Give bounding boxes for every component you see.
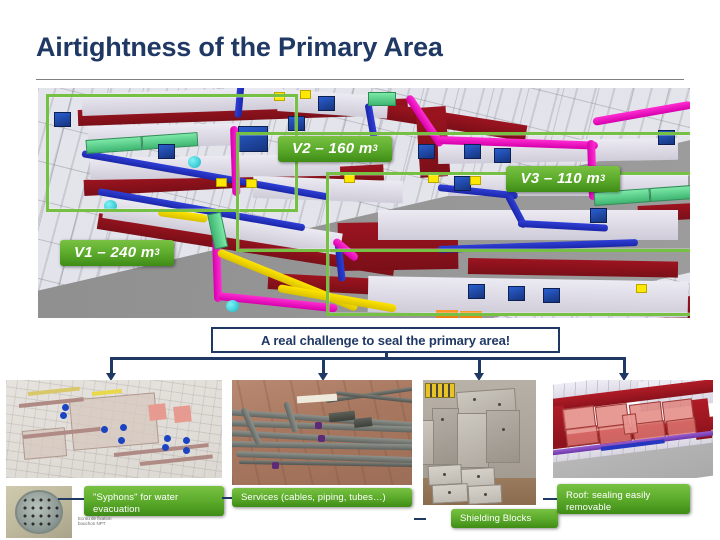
shielding-block — [423, 420, 434, 465]
cable-bundle-photo — [232, 380, 412, 485]
connector-branch-2 — [322, 357, 325, 374]
label-syphons-line1: "Syphons" for water — [93, 492, 178, 504]
page-title: Airtightness of the Primary Area — [36, 32, 676, 72]
safety-barrier — [425, 383, 454, 398]
label-connector-1 — [58, 498, 84, 500]
shielding-block — [486, 410, 520, 463]
lifting-hole — [473, 398, 476, 401]
label-services: Services (cables, piping, tubes…) — [232, 488, 412, 507]
drain-photo-caption: Ecrou de fixation bouchon NPT — [78, 516, 122, 526]
floor-drain-photo — [6, 486, 72, 538]
connector-branch-3 — [478, 357, 481, 374]
lifting-hole — [484, 493, 487, 496]
cubic-exponent: 3 — [600, 173, 605, 185]
cable-marker — [318, 435, 325, 442]
plan-structure-red — [174, 406, 193, 424]
shielding-block — [432, 408, 459, 466]
title-divider — [36, 79, 684, 80]
label-roof-sealing: Roof: sealing easily removable — [557, 484, 690, 514]
shielding-blocks-photo — [423, 380, 536, 505]
lifting-hole — [441, 418, 444, 421]
layout-plan-photo — [6, 380, 222, 478]
cad-blue-box — [318, 96, 335, 111]
plan-structure-red — [148, 404, 167, 422]
label-services-text: Services (cables, piping, tubes…) — [241, 492, 386, 504]
volume-label-v2: V2 – 160 m3 — [278, 136, 392, 162]
label-roof-sealing-line2: removable — [566, 502, 611, 514]
syphon-point — [183, 437, 190, 444]
label-shielding-blocks-text: Shielding Blocks — [460, 513, 531, 525]
syphon-point — [62, 404, 69, 411]
primary-area-3d-cad-image — [38, 88, 690, 318]
syphon-point — [164, 435, 171, 442]
cad-green-module — [368, 92, 396, 106]
slide-root: Airtightness of the Primary Area — [0, 0, 720, 540]
volume-label-v1: V1 – 240 m3 — [60, 240, 174, 266]
connector-branch-1 — [110, 357, 113, 374]
zone-outline-v3 — [326, 172, 690, 316]
label-shielding-blocks: Shielding Blocks — [451, 509, 558, 528]
cable-marker — [272, 462, 279, 469]
drain-holes — [19, 494, 59, 529]
label-syphons: "Syphons" for water evacuation — [84, 486, 224, 516]
connector-branch-4 — [623, 357, 626, 374]
cad-yellow-tag — [300, 90, 311, 99]
syphon-point — [162, 444, 169, 451]
label-syphons-line2: evacuation — [93, 504, 140, 516]
challenge-callout: A real challenge to seal the primary are… — [211, 327, 560, 353]
shielding-block — [457, 413, 489, 468]
lifting-hole — [498, 403, 501, 406]
roof-sealing-cad-photo — [553, 380, 713, 478]
syphon-point — [183, 447, 190, 454]
lifting-hole — [443, 473, 446, 476]
label-roof-sealing-line1: Roof: sealing easily — [566, 490, 650, 502]
roof-seal-panel-raised — [622, 413, 639, 434]
cad-cyan-part — [226, 300, 239, 312]
lifting-hole — [502, 428, 505, 431]
cable-marker — [315, 422, 322, 429]
volume-label-v3: V3 – 110 m3 — [506, 166, 620, 192]
cubic-exponent: 3 — [155, 247, 160, 259]
cubic-exponent: 3 — [373, 143, 378, 155]
label-connector-4 — [543, 498, 557, 500]
connector-horizontal — [110, 357, 626, 360]
cable-connector — [354, 417, 373, 428]
challenge-callout-text: A real challenge to seal the primary are… — [261, 333, 510, 348]
label-connector-3 — [414, 518, 426, 520]
